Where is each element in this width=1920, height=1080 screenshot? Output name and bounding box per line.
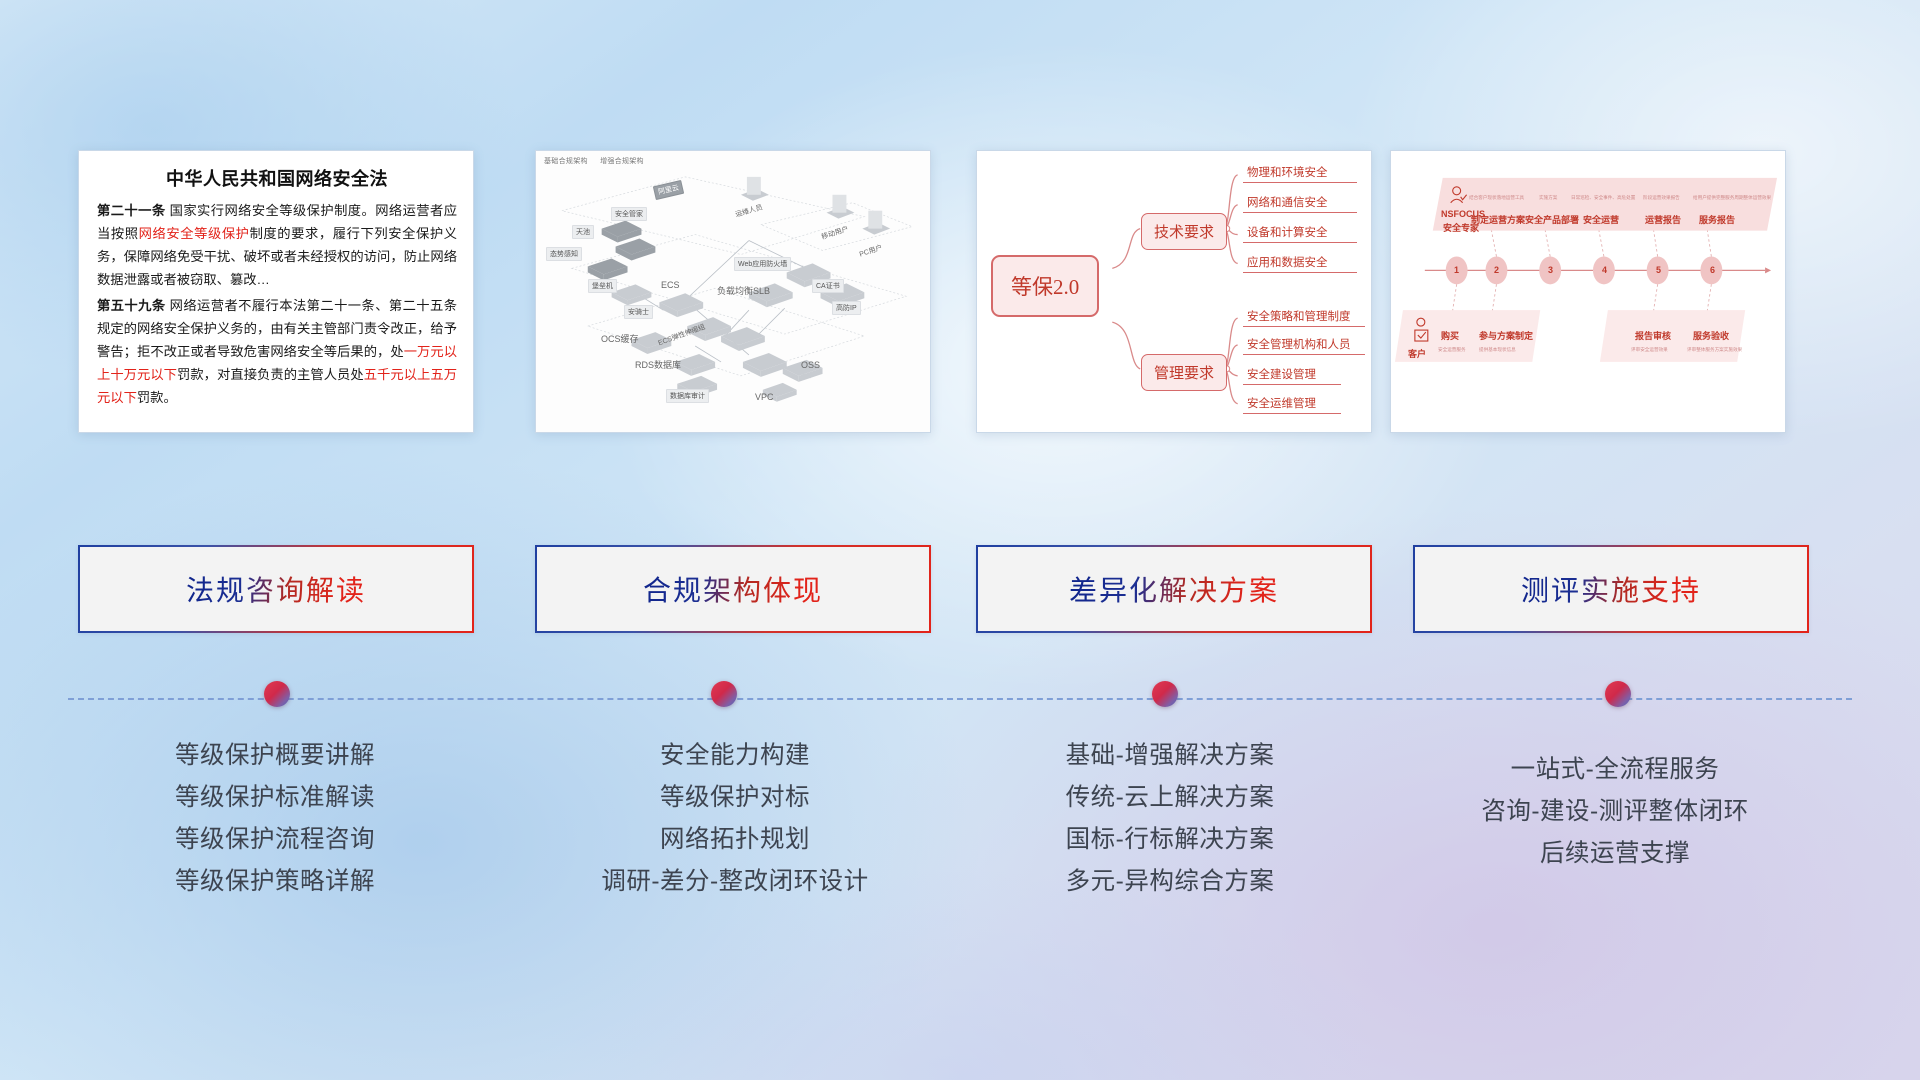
mindmap: 等保2.0 技术要求 管理要求 物理和环境安全 网络和通信安全 设备和计算安全 …	[977, 151, 1371, 432]
node-label-ecs: ECS	[658, 279, 683, 291]
headline-label-2: 合规架构体现	[643, 569, 823, 609]
step-number-3: 3	[1548, 265, 1553, 275]
node-label-security-butler: 安全管家	[611, 207, 647, 221]
timeline-dot-1[interactable]	[264, 681, 290, 707]
list-item: 调研-差分-整改闭环设计	[500, 861, 970, 903]
architecture-diagram: 基础合规架构 增强合规架构	[536, 151, 930, 432]
mindmap-root: 等保2.0	[991, 255, 1099, 317]
list-item: 安全能力构建	[500, 735, 970, 777]
node-label-vpc: VPC	[752, 391, 777, 403]
list-item: 等级保护策略详解	[40, 861, 510, 903]
bottom-step-desc-1: 安全运营服务	[1438, 347, 1466, 353]
mindmap-leaf-m4: 安全运维管理	[1243, 395, 1341, 414]
law-text-block: 中华人民共和国网络安全法 第二十一条 国家实行网络安全等级保护制度。网络运营者应…	[79, 151, 473, 410]
top-step-desc-5: 给用户提供完整服务周期整体运营效果	[1693, 195, 1771, 201]
headline-box-regulation-consulting[interactable]: 法规咨询解读	[78, 545, 474, 633]
headline-label-4: 测评实施支持	[1521, 569, 1701, 609]
mindmap-leaf-m1: 安全策略和管理制度	[1243, 308, 1365, 327]
node-label-slb: 负载均衡SLB	[714, 283, 773, 298]
mindmap-branch-management: 管理要求	[1141, 354, 1227, 391]
detail-column-4: 一站式-全流程服务 咨询-建设-测评整体闭环 后续运营支撑	[1380, 735, 1850, 875]
card-cloud-architecture: 基础合规架构 增强合规架构	[535, 150, 931, 433]
list-item: 咨询-建设-测评整体闭环	[1380, 791, 1850, 833]
node-label-anqishi: 安骑士	[624, 305, 653, 319]
mindmap-leaf-m3: 安全建设管理	[1243, 366, 1341, 385]
nsfocus-customer-role: 客户	[1408, 347, 1426, 360]
node-label-anti-ddos-ip: 高防IP	[832, 301, 861, 315]
list-item: 等级保护流程咨询	[40, 819, 510, 861]
list-item: 后续运营支撑	[1380, 833, 1850, 875]
nsfocus-timeline-graphics	[1391, 151, 1785, 433]
top-step-desc-2: 实施方案	[1539, 195, 1557, 201]
top-step-title-3: 安全运营	[1583, 213, 1619, 226]
law-title: 中华人民共和国网络安全法	[97, 165, 457, 191]
node-label-ca-cert: CA证书	[812, 279, 844, 293]
headline-box-assessment-support[interactable]: 测评实施支持	[1413, 545, 1809, 633]
bottom-step-title-2: 参与方案制定	[1479, 329, 1533, 342]
law-article-59: 第五十九条 网络运营者不履行本法第二十一条、第二十五条规定的网络安全保护义务的，…	[97, 295, 457, 409]
top-step-desc-1: 结合客户现状落地运营工具	[1469, 195, 1524, 201]
top-step-title-5: 服务报告	[1699, 213, 1735, 226]
law-article-21: 第二十一条 国家实行网络安全等级保护制度。网络运营者应当按照网络安全等级保护制度…	[97, 200, 457, 291]
card-nsfocus-service-timeline: NSFOCUS 安全专家 客户 结合客户现状落地运营工具 制定运营方案 实施方案…	[1390, 150, 1786, 433]
headline-box-compliance-architecture[interactable]: 合规架构体现	[535, 545, 931, 633]
headline-label-1: 法规咨询解读	[186, 569, 366, 609]
top-step-desc-4: 阶段运营效果报告	[1643, 195, 1680, 201]
node-label-waf: Web应用防火墙	[734, 257, 791, 271]
list-item: 多元-异构综合方案	[935, 861, 1405, 903]
list-item: 基础-增强解决方案	[935, 735, 1405, 777]
timeline	[0, 690, 1920, 730]
top-step-desc-3: 日常巡检、安全事件、高危处置	[1571, 195, 1635, 201]
step-number-6: 6	[1710, 265, 1715, 275]
article-59-part2: 罚款，对直接负责的主管人员处	[177, 367, 364, 382]
headline-label-3: 差异化解决方案	[1069, 569, 1279, 609]
mindmap-leaf-t3: 设备和计算安全	[1243, 224, 1357, 243]
step-number-5: 5	[1656, 265, 1661, 275]
mindmap-branch-technical: 技术要求	[1141, 213, 1227, 250]
step-number-4: 4	[1602, 265, 1607, 275]
node-label-tianchi: 天池	[572, 225, 594, 239]
timeline-dot-4[interactable]	[1605, 681, 1631, 707]
node-label-rds-database: RDS数据库	[632, 357, 684, 372]
step-number-1: 1	[1454, 265, 1459, 275]
article-59-label: 第五十九条	[97, 298, 166, 313]
bottom-step-desc-4: 评审整体服务方案实施效果	[1687, 347, 1742, 353]
list-item: 等级保护对标	[500, 777, 970, 819]
top-step-title-2: 安全产品部署	[1525, 213, 1579, 226]
node-label-oss: OSS	[798, 359, 823, 371]
detail-column-2: 安全能力构建 等级保护对标 网络拓扑规划 调研-差分-整改闭环设计	[500, 735, 970, 904]
node-label-situation-awareness: 态势感知	[546, 247, 582, 261]
list-item: 等级保护标准解读	[40, 777, 510, 819]
list-item: 等级保护概要讲解	[40, 735, 510, 777]
card-dengbao-mindmap: 等保2.0 技术要求 管理要求 物理和环境安全 网络和通信安全 设备和计算安全 …	[976, 150, 1372, 433]
mindmap-leaf-m2: 安全管理机构和人员	[1243, 336, 1365, 355]
bottom-step-title-4: 服务验收	[1693, 329, 1729, 342]
timeline-dot-3[interactable]	[1152, 681, 1178, 707]
bottom-step-desc-2: 提供基本现状信息	[1479, 347, 1516, 353]
step-number-2: 2	[1494, 265, 1499, 275]
bottom-step-desc-3: 评审安全运营效果	[1631, 347, 1668, 353]
nsfocus-timeline: NSFOCUS 安全专家 客户 结合客户现状落地运营工具 制定运营方案 实施方案…	[1391, 151, 1785, 432]
mindmap-leaf-t4: 应用和数据安全	[1243, 254, 1357, 273]
list-item: 传统-云上解决方案	[935, 777, 1405, 819]
article-21-label: 第二十一条	[97, 203, 166, 218]
headline-boxes-row: 法规咨询解读 合规架构体现 差异化解决方案 测评实施支持	[0, 545, 1920, 640]
top-step-title-1: 制定运营方案	[1471, 213, 1525, 226]
list-item: 网络拓扑规划	[500, 819, 970, 861]
reference-cards-row: 中华人民共和国网络安全法 第二十一条 国家实行网络安全等级保护制度。网络运营者应…	[0, 150, 1920, 440]
top-step-title-4: 运营报告	[1645, 213, 1681, 226]
article-59-part3: 罚款。	[137, 390, 177, 405]
list-item: 一站式-全流程服务	[1380, 749, 1850, 791]
detail-column-1: 等级保护概要讲解 等级保护标准解读 等级保护流程咨询 等级保护策略详解	[40, 735, 510, 904]
timeline-dot-2[interactable]	[711, 681, 737, 707]
mindmap-leaf-t1: 物理和环境安全	[1243, 164, 1357, 183]
node-label-database-audit: 数据库审计	[666, 389, 709, 403]
detail-columns: 等级保护概要讲解 等级保护标准解读 等级保护流程咨询 等级保护策略详解 安全能力…	[0, 735, 1920, 965]
article-21-highlight: 网络安全等级保护	[139, 226, 250, 241]
card-cybersecurity-law: 中华人民共和国网络安全法 第二十一条 国家实行网络安全等级保护制度。网络运营者应…	[78, 150, 474, 433]
detail-column-3: 基础-增强解决方案 传统-云上解决方案 国标-行标解决方案 多元-异构综合方案	[935, 735, 1405, 904]
timeline-dashed-line	[68, 698, 1852, 700]
node-label-bastion-host: 堡垒机	[588, 279, 617, 293]
list-item: 国标-行标解决方案	[935, 819, 1405, 861]
headline-box-differentiated-solution[interactable]: 差异化解决方案	[976, 545, 1372, 633]
bottom-step-title-1: 购买	[1441, 329, 1459, 342]
node-label-ocs-cache: OCS缓存	[598, 331, 642, 346]
mindmap-leaf-t2: 网络和通信安全	[1243, 194, 1357, 213]
bottom-step-title-3: 报告审核	[1635, 329, 1671, 342]
